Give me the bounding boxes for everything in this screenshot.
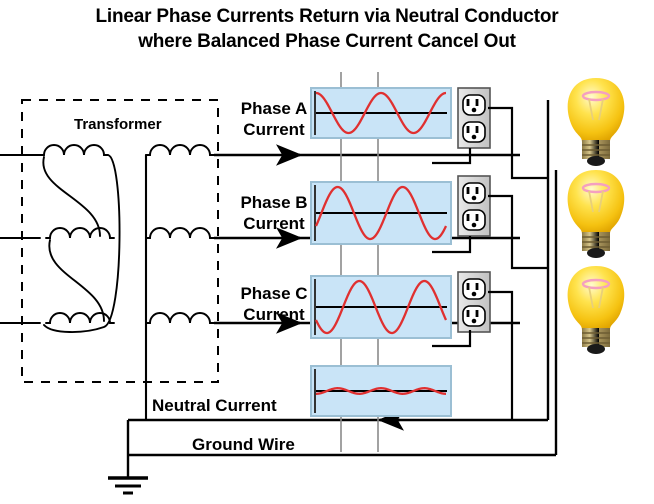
light-bulb xyxy=(568,78,625,166)
socket-blade-slot xyxy=(476,126,479,133)
scope-neutral-current xyxy=(311,366,451,416)
transformer-secondary xyxy=(146,145,214,420)
outlet-group xyxy=(458,88,490,332)
socket-ground-hole xyxy=(472,292,477,297)
socket-ground-hole xyxy=(472,135,477,140)
duplex-outlet[interactable] xyxy=(458,88,490,148)
socket-blade-slot xyxy=(476,99,479,106)
light-bulb xyxy=(568,266,625,354)
socket-blade-slot xyxy=(467,310,470,317)
duplex-outlet[interactable] xyxy=(458,176,490,236)
transformer-primary xyxy=(0,145,120,332)
socket-blade-slot xyxy=(467,187,470,194)
bulb-base-tip xyxy=(587,248,605,258)
socket-ground-hole xyxy=(472,108,477,113)
circuit-schematic xyxy=(0,0,654,504)
bulb-glass xyxy=(568,78,625,142)
scope-phase-a-current xyxy=(311,88,451,138)
bulb-group xyxy=(568,78,625,354)
diagram-canvas: Linear Phase Currents Return via Neutral… xyxy=(0,0,654,504)
light-bulb xyxy=(568,170,625,258)
socket-blade-slot xyxy=(467,99,470,106)
socket-blade-slot xyxy=(476,187,479,194)
earth-ground-icon xyxy=(108,455,148,493)
bulb-glass xyxy=(568,266,625,330)
socket-ground-hole xyxy=(472,223,477,228)
waveform-scopes xyxy=(311,88,451,416)
socket-ground-hole xyxy=(472,196,477,201)
socket-blade-slot xyxy=(467,283,470,290)
socket-blade-slot xyxy=(467,214,470,221)
duplex-outlet[interactable] xyxy=(458,272,490,332)
bulb-base-tip xyxy=(587,344,605,354)
bulb-glass xyxy=(568,170,625,234)
socket-blade-slot xyxy=(476,310,479,317)
socket-ground-hole xyxy=(472,319,477,324)
socket-blade-slot xyxy=(476,214,479,221)
scope-phase-b-current xyxy=(311,182,451,244)
socket-blade-slot xyxy=(467,126,470,133)
scope-phase-c-current xyxy=(311,276,451,338)
bulb-base-tip xyxy=(587,156,605,166)
socket-blade-slot xyxy=(476,283,479,290)
